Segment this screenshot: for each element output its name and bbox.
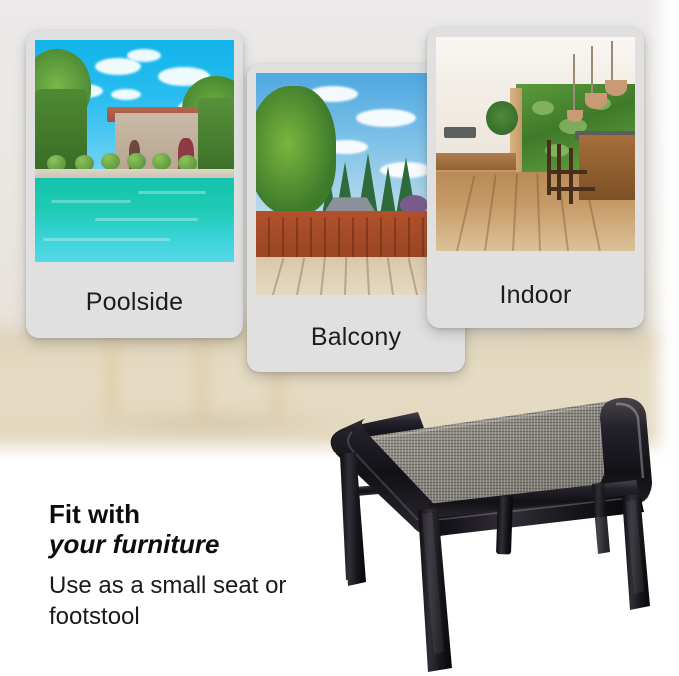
table-leg-2 <box>196 328 207 420</box>
marketing-copy-block: Fit with your furniture Use as a small s… <box>49 499 339 632</box>
table-leg-1 <box>106 328 117 420</box>
pool-hedge-right <box>198 98 234 173</box>
water-ripple <box>51 200 131 203</box>
scene-photo-indoor <box>436 37 635 251</box>
water-ripple <box>95 218 198 221</box>
railing-slat <box>422 217 424 257</box>
pendant-cord <box>591 46 593 93</box>
railing-slat <box>310 217 312 257</box>
railing-slat <box>352 217 354 257</box>
pendant-light <box>585 93 607 109</box>
pendant-light <box>605 80 627 96</box>
subtext: Use as a small seat or footstool <box>49 571 339 631</box>
cloud-icon <box>111 89 141 100</box>
cloud-icon <box>356 109 416 127</box>
railing-slat <box>268 217 270 257</box>
railing-slat <box>282 217 284 257</box>
indoor-potted-plant <box>486 101 518 135</box>
railing-slat <box>338 217 340 257</box>
pendant-cord <box>611 41 613 80</box>
footstool-product-image <box>300 392 679 676</box>
scene-card-indoor[interactable]: Indoor <box>427 28 644 328</box>
railing-slat <box>380 217 382 257</box>
dining-table-edge <box>551 187 595 191</box>
pendant-light <box>567 110 583 122</box>
cloud-icon <box>127 49 161 62</box>
indoor-sink <box>444 127 476 138</box>
scene-photo-balcony <box>256 73 456 295</box>
dining-table-edge <box>547 170 587 174</box>
scene-card-label-indoor: Indoor <box>427 281 644 310</box>
railing-slat <box>408 217 410 257</box>
product-marketing-image: Poolside <box>0 0 679 676</box>
dining-chair <box>569 148 573 204</box>
scene-card-poolside[interactable]: Poolside <box>26 31 243 338</box>
balcony-evergreen <box>256 86 336 215</box>
scene-card-label-balcony: Balcony <box>247 323 465 352</box>
balcony-railing <box>256 211 456 258</box>
pendant-cord <box>573 54 575 110</box>
balcony-deck <box>256 257 456 295</box>
topiary-shrub <box>101 153 120 170</box>
headline-line-2: your furniture <box>49 529 339 559</box>
water-ripple <box>138 191 206 194</box>
railing-slat <box>324 217 326 257</box>
railing-slat <box>394 217 396 257</box>
railing-slat <box>296 217 298 257</box>
scene-photo-poolside <box>35 40 234 262</box>
headline-line-1: Fit with <box>49 499 339 529</box>
railing-slat <box>366 217 368 257</box>
garden-foliage <box>532 101 554 115</box>
water-ripple <box>43 238 170 241</box>
scene-card-label-poolside: Poolside <box>26 288 243 317</box>
topiary-shrub <box>127 153 146 170</box>
